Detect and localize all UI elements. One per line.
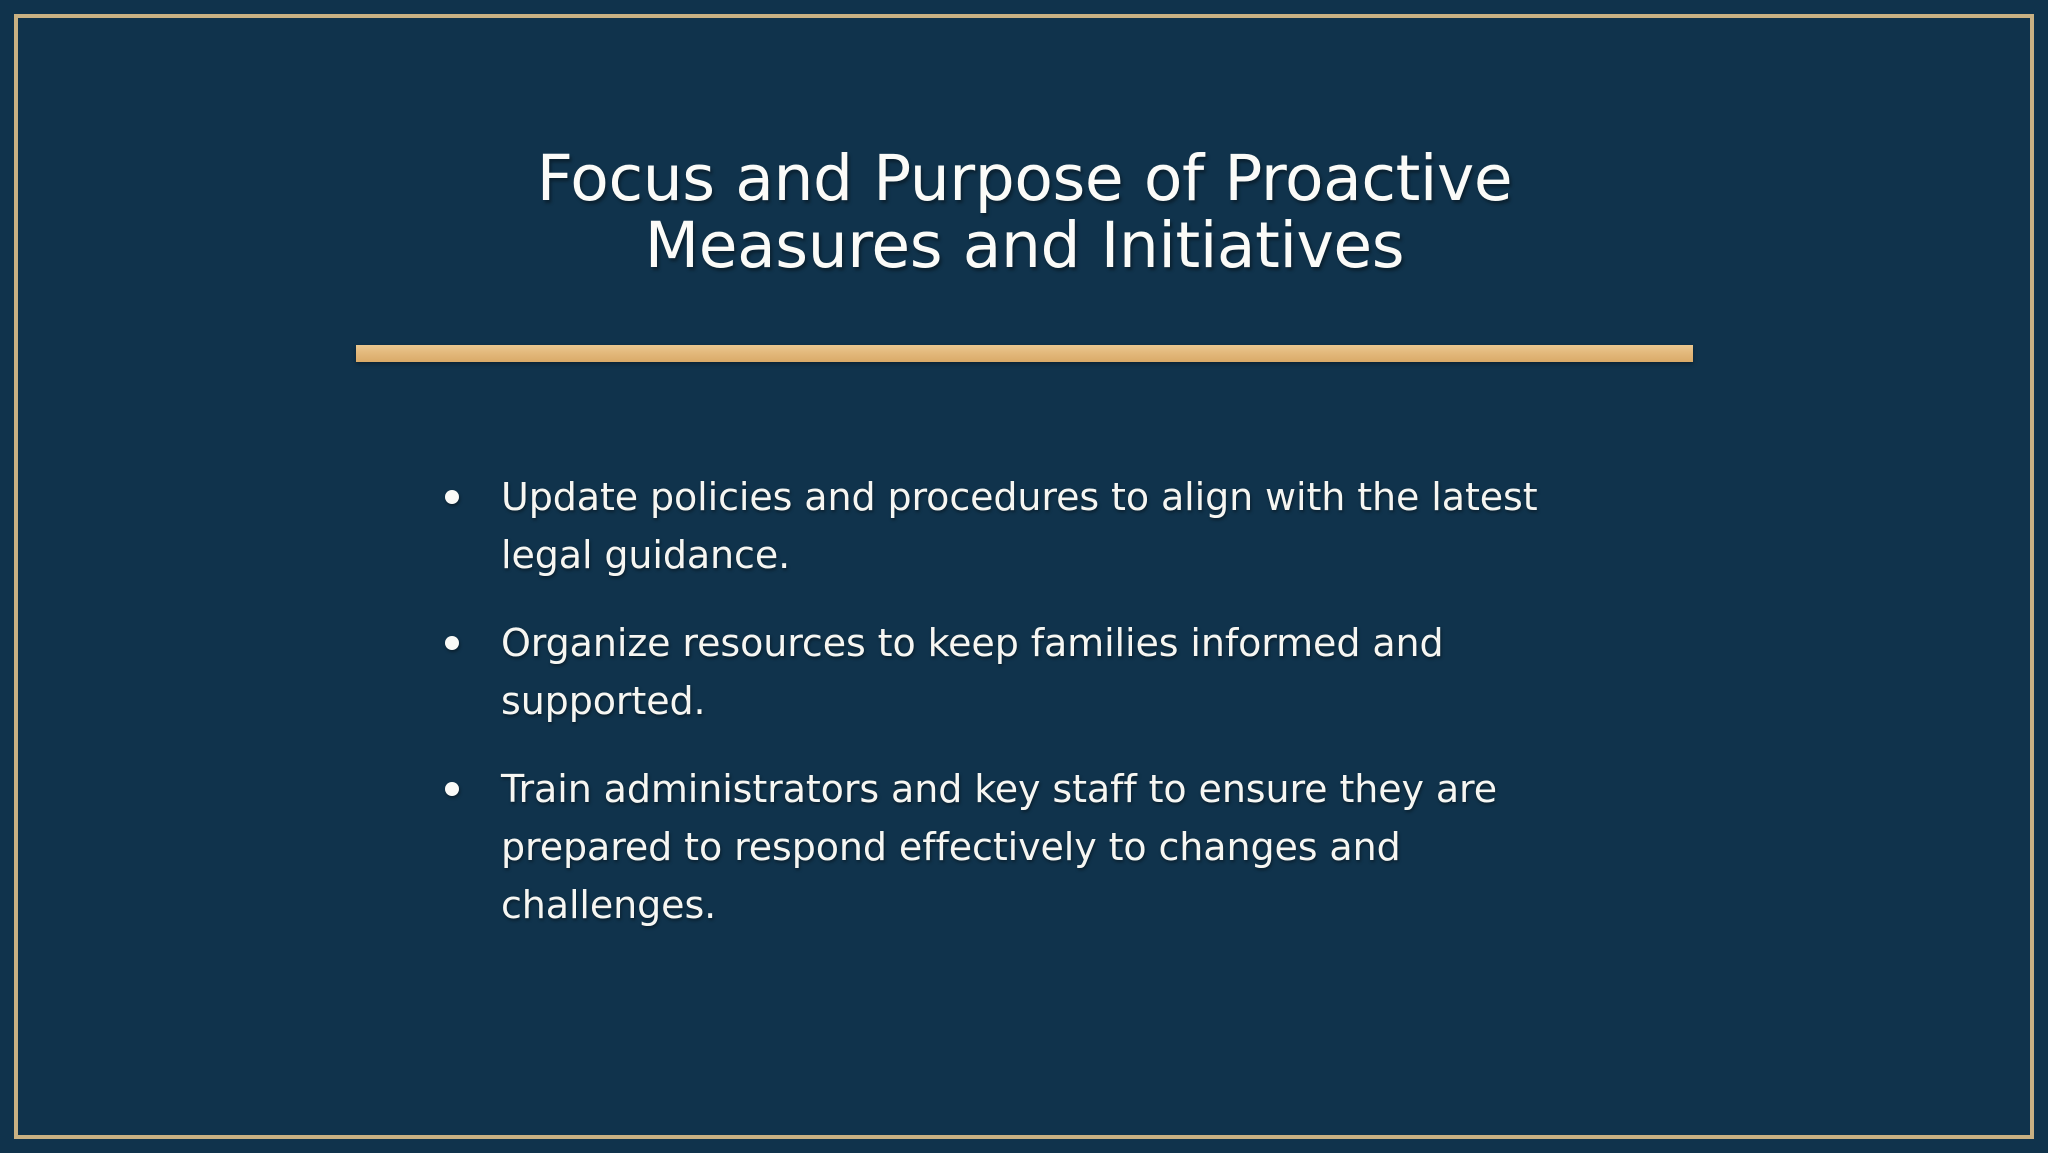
- page-title: Focus and Purpose of Proactive Measures …: [356, 146, 1693, 280]
- bullet-dot-icon: [445, 490, 459, 504]
- list-item: Update policies and procedures to align …: [430, 468, 1590, 584]
- bullet-list: Update policies and procedures to align …: [430, 468, 1590, 934]
- list-item-text: Organize resources to keep families info…: [501, 614, 1590, 730]
- list-item: Train administrators and key staff to en…: [430, 760, 1590, 934]
- slide-content: Focus and Purpose of Proactive Measures …: [0, 0, 2048, 1153]
- list-item-text: Train administrators and key staff to en…: [501, 760, 1590, 934]
- bullet-dot-icon: [445, 636, 459, 650]
- slide-title-block: Focus and Purpose of Proactive Measures …: [356, 146, 1693, 280]
- list-item-text: Update policies and procedures to align …: [501, 468, 1590, 584]
- title-accent-divider: [356, 345, 1693, 362]
- title-line-1: Focus and Purpose of Proactive: [356, 146, 1693, 213]
- title-line-2: Measures and Initiatives: [356, 213, 1693, 280]
- list-item: Organize resources to keep families info…: [430, 614, 1590, 730]
- bullet-dot-icon: [445, 782, 459, 796]
- presentation-slide: Focus and Purpose of Proactive Measures …: [0, 0, 2048, 1153]
